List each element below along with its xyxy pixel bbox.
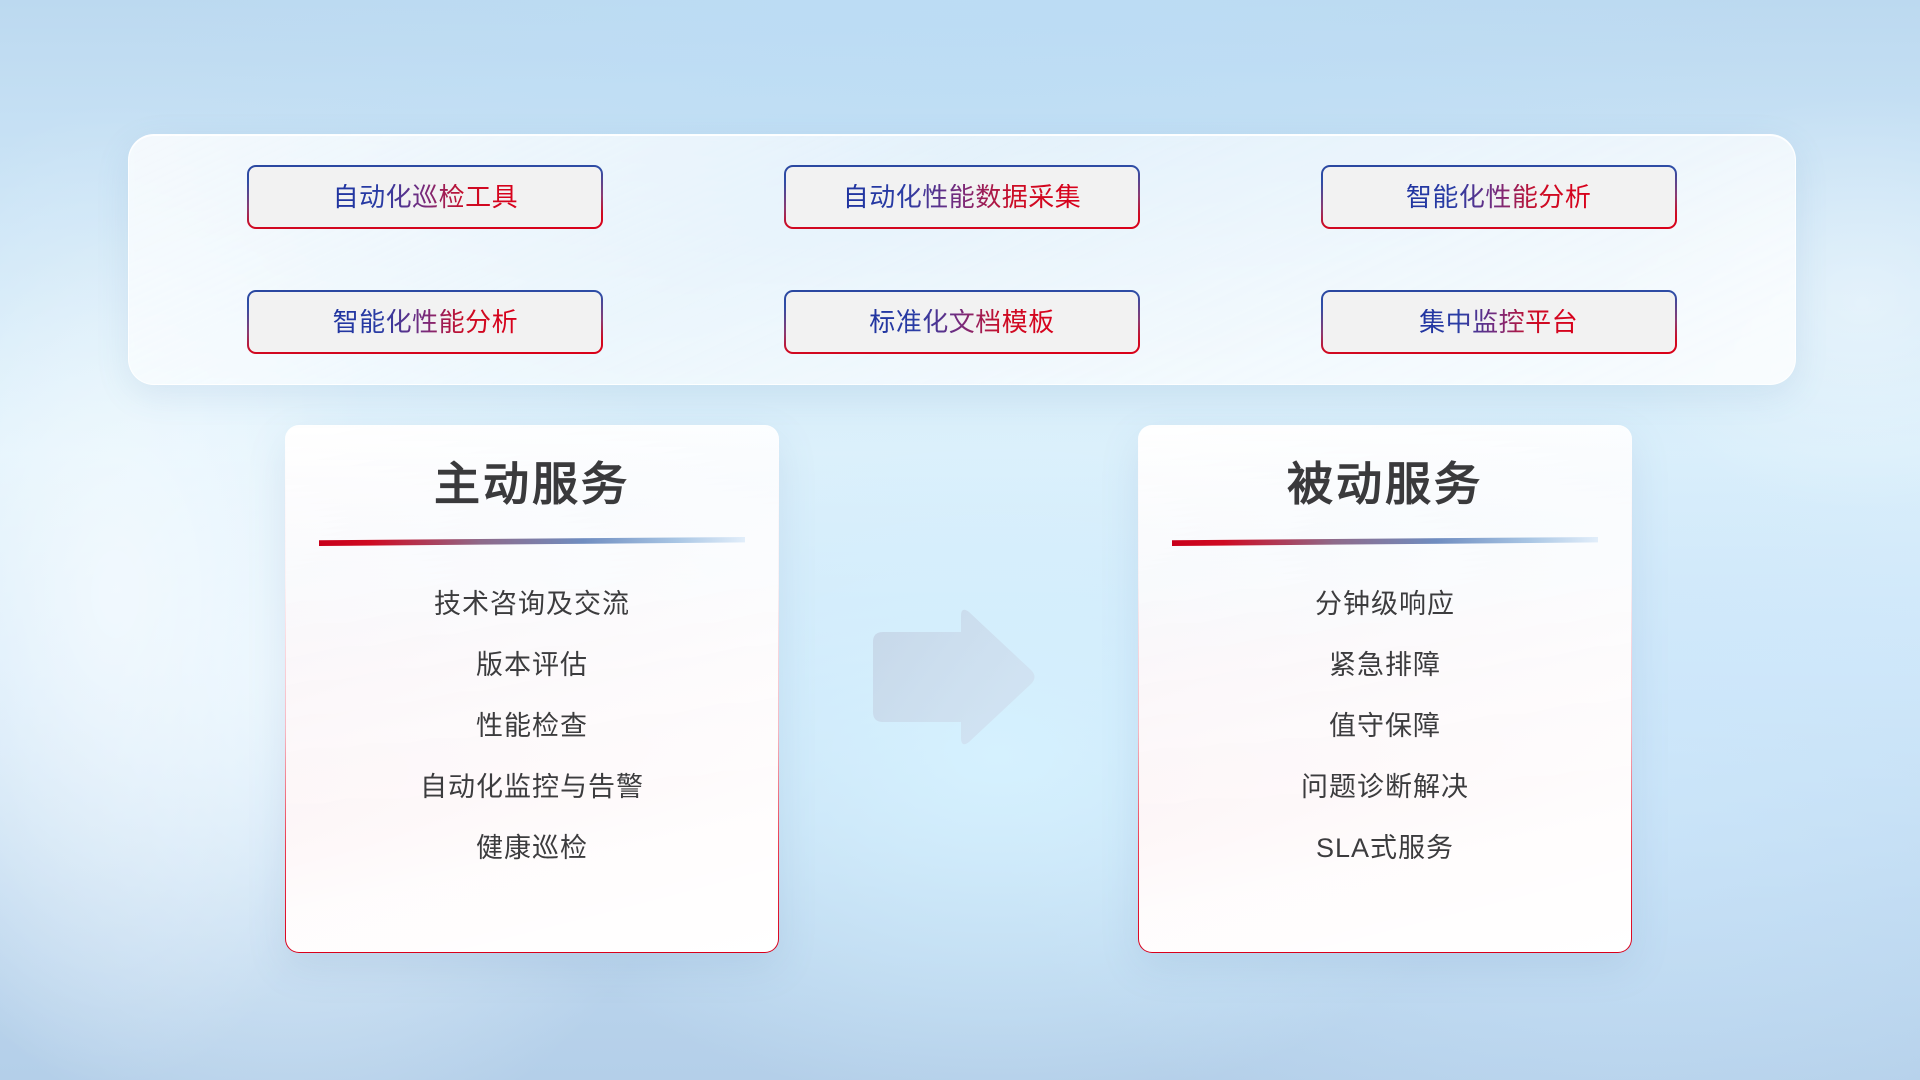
card-list-item: 版本评估: [286, 635, 778, 696]
card-item-list: 分钟级响应 紧急排障 值守保障 问题诊断解决 SLA式服务: [1139, 546, 1631, 879]
capability-pill-1[interactable]: 自动化巡检工具: [247, 165, 603, 229]
service-card-reactive: 被动服务 分钟级响应 紧急排障 值守保障: [1138, 425, 1632, 953]
capability-pill-label: 自动化性能数据采集: [843, 184, 1082, 210]
capability-panel: 自动化巡检工具 自动化性能数据采集 智能化性能分析 智能化性能分析 标准化文档模…: [128, 134, 1796, 385]
card-list-item: 自动化监控与告警: [286, 757, 778, 818]
capability-pill-label: 自动化巡检工具: [333, 184, 519, 210]
capability-pill-label: 智能化性能分析: [1406, 184, 1592, 210]
card-divider: [319, 537, 745, 546]
capability-pill-grid: 自动化巡检工具 自动化性能数据采集 智能化性能分析 智能化性能分析 标准化文档模…: [129, 135, 1795, 384]
capability-pill-5[interactable]: 标准化文档模板: [784, 290, 1140, 354]
card-list-item: 问题诊断解决: [1139, 757, 1631, 818]
infographic-stage: 自动化巡检工具 自动化性能数据采集 智能化性能分析 智能化性能分析 标准化文档模…: [0, 0, 1920, 1080]
card-title: 主动服务: [286, 426, 778, 508]
card-list-item: 技术咨询及交流: [286, 574, 778, 635]
capability-pill-2[interactable]: 自动化性能数据采集: [784, 165, 1140, 229]
card-list-item: 健康巡检: [286, 818, 778, 879]
capability-pill-3[interactable]: 智能化性能分析: [1321, 165, 1677, 229]
card-title: 被动服务: [1139, 426, 1631, 508]
card-list-item: 性能检查: [286, 696, 778, 757]
capability-pill-4[interactable]: 智能化性能分析: [247, 290, 603, 354]
capability-pill-6[interactable]: 集中监控平台: [1321, 290, 1677, 354]
capability-pill-label: 标准化文档模板: [869, 309, 1055, 335]
card-list-item: 值守保障: [1139, 696, 1631, 757]
card-list-item: SLA式服务: [1139, 818, 1631, 879]
capability-pill-label: 智能化性能分析: [333, 309, 519, 335]
card-divider: [1172, 537, 1598, 546]
card-list-item: 紧急排障: [1139, 635, 1631, 696]
card-list-item: 分钟级响应: [1139, 574, 1631, 635]
card-item-list: 技术咨询及交流 版本评估 性能检查 自动化监控与告警 健康巡检: [286, 546, 778, 879]
capability-pill-label: 集中监控平台: [1419, 309, 1578, 335]
flow-arrow: [869, 608, 1039, 748]
service-card-proactive: 主动服务 技术咨询及交流 版本评估 性能检查: [285, 425, 779, 953]
